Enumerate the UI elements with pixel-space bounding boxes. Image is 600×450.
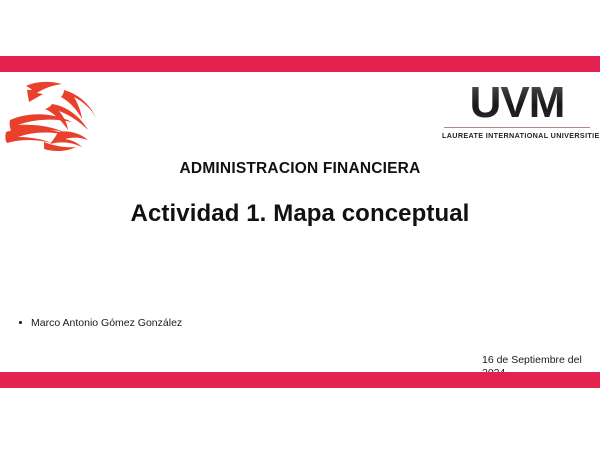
author-name: Marco Antonio Gómez González [31, 317, 182, 329]
date-line-1: 16 de Septiembre del [482, 354, 586, 367]
title-block: ADMINISTRACION FINANCIERA Actividad 1. M… [0, 160, 600, 228]
top-accent-bar [0, 56, 600, 72]
uvm-wordmark: UVM [442, 80, 592, 126]
uvm-divider-rule [444, 127, 590, 128]
list-item: Marco Antonio Gómez González [16, 316, 182, 330]
bottom-accent-bar [0, 372, 600, 388]
uvm-logo: UVM LAUREATE INTERNATIONAL UNIVERSITIES [442, 80, 592, 142]
uvm-tagline: LAUREATE INTERNATIONAL UNIVERSITIES [442, 131, 592, 140]
activity-title: Actividad 1. Mapa conceptual [0, 200, 600, 228]
author-list: Marco Antonio Gómez González [16, 316, 182, 330]
course-title: ADMINISTRACION FINANCIERA [0, 160, 600, 178]
presentation-slide: UVM LAUREATE INTERNATIONAL UNIVERSITIES … [0, 0, 600, 450]
bullet-icon [19, 321, 22, 324]
jaguar-logo-icon [4, 80, 108, 152]
